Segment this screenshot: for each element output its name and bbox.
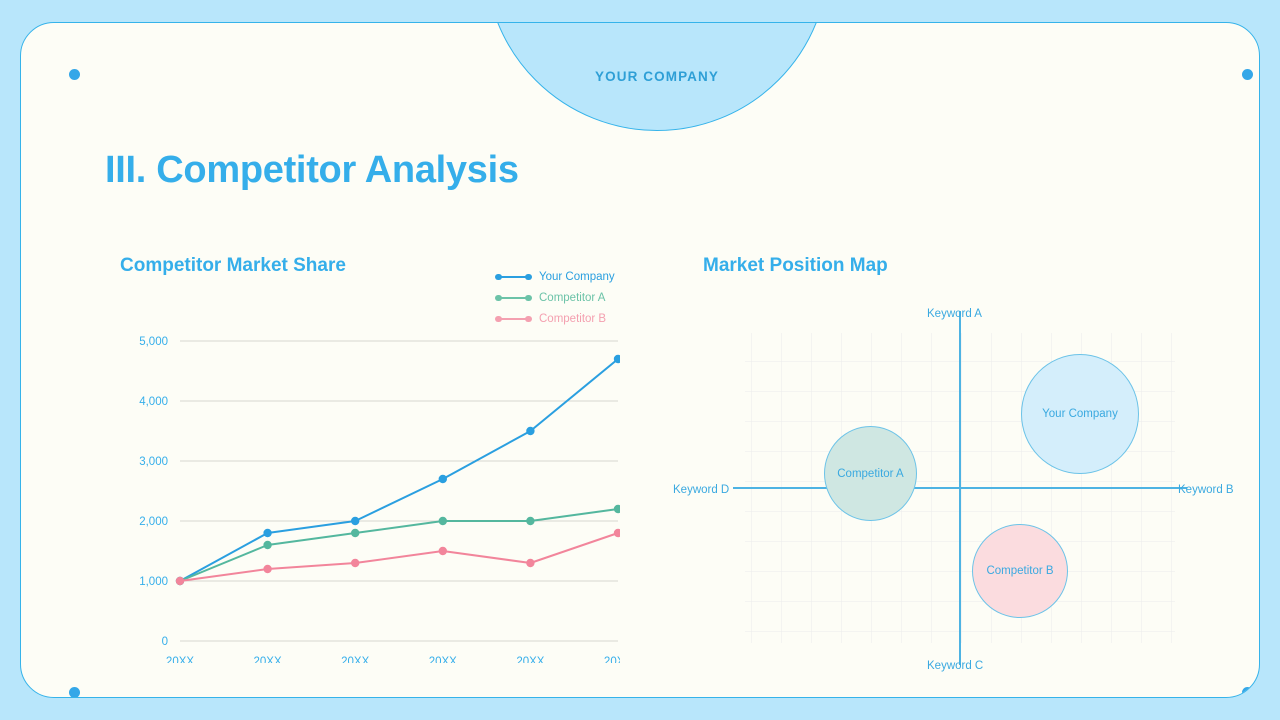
legend-item-competitor-a[interactable]: Competitor A: [495, 287, 615, 308]
y-axis-tick-label: 5,000: [139, 336, 168, 348]
series-point[interactable]: [351, 529, 359, 537]
chart-gridlines: [180, 341, 618, 641]
line-chart-svg: 01,0002,0003,0004,0005,000 20XX20XX20XX2…: [120, 323, 620, 663]
legend-label: Your Company: [539, 271, 615, 283]
series-point[interactable]: [526, 517, 534, 525]
map-bubble-your-company[interactable]: Your Company: [1021, 354, 1139, 474]
corner-dot-top-left: [69, 69, 80, 80]
series-point[interactable]: [439, 475, 447, 483]
y-axis-tick-label: 2,000: [139, 516, 168, 528]
y-axis-tick-label: 0: [162, 636, 168, 648]
series-line: [180, 359, 618, 581]
series-point[interactable]: [351, 559, 359, 567]
page-title: III. Competitor Analysis: [105, 149, 519, 192]
legend-label: Competitor B: [539, 313, 606, 325]
x-axis-tick-label: 20XX: [254, 656, 282, 663]
map-label-keyword-b: Keyword B: [1178, 484, 1234, 496]
market-share-heading: Competitor Market Share: [120, 255, 346, 277]
y-axis-tick-label: 4,000: [139, 396, 168, 408]
chart-x-axis-labels: 20XX20XX20XX20XX20XX20XX: [166, 656, 620, 663]
company-banner: YOUR COMPANY: [485, 22, 829, 131]
legend-marker-icon: [495, 272, 535, 281]
series-point[interactable]: [614, 529, 620, 537]
slide-card: YOUR COMPANY III. Competitor Analysis Co…: [20, 22, 1260, 698]
legend-item-your-company[interactable]: Your Company: [495, 266, 615, 287]
x-axis-tick-label: 20XX: [429, 656, 457, 663]
series-point[interactable]: [526, 427, 534, 435]
chart-legend: Your Company Competitor A Competitor B: [495, 266, 615, 329]
series-point[interactable]: [351, 517, 359, 525]
map-bubble-competitor-b[interactable]: Competitor B: [972, 524, 1068, 618]
market-position-map: [661, 301, 1260, 683]
position-map-svg: [661, 301, 1260, 683]
company-name-label: YOUR COMPANY: [486, 69, 828, 84]
map-label-keyword-d: Keyword D: [673, 484, 729, 496]
series-point[interactable]: [526, 559, 534, 567]
legend-item-competitor-b[interactable]: Competitor B: [495, 308, 615, 329]
x-axis-tick-label: 20XX: [516, 656, 544, 663]
legend-marker-icon: [495, 314, 535, 323]
legend-label: Competitor A: [539, 292, 605, 304]
series-point[interactable]: [263, 565, 271, 573]
series-point[interactable]: [614, 505, 620, 513]
corner-dot-bottom-right: [1242, 687, 1253, 698]
series-point[interactable]: [176, 577, 184, 585]
x-axis-tick-label: 20XX: [604, 656, 620, 663]
chart-series-group: [176, 355, 620, 585]
y-axis-tick-label: 3,000: [139, 456, 168, 468]
corner-dot-top-right: [1242, 69, 1253, 80]
map-bubble-competitor-a[interactable]: Competitor A: [824, 426, 917, 521]
y-axis-tick-label: 1,000: [139, 576, 168, 588]
series-line: [180, 533, 618, 581]
x-axis-tick-label: 20XX: [166, 656, 194, 663]
series-point[interactable]: [263, 529, 271, 537]
series-point[interactable]: [439, 517, 447, 525]
x-axis-tick-label: 20XX: [341, 656, 369, 663]
series-point[interactable]: [263, 541, 271, 549]
chart-y-axis-labels: 01,0002,0003,0004,0005,000: [139, 336, 168, 648]
series-point[interactable]: [439, 547, 447, 555]
market-share-line-chart: 01,0002,0003,0004,0005,000 20XX20XX20XX2…: [120, 323, 620, 663]
map-label-keyword-c: Keyword C: [927, 660, 983, 672]
corner-dot-bottom-left: [69, 687, 80, 698]
position-map-heading: Market Position Map: [703, 255, 888, 277]
map-label-keyword-a: Keyword A: [927, 308, 982, 320]
legend-marker-icon: [495, 293, 535, 302]
